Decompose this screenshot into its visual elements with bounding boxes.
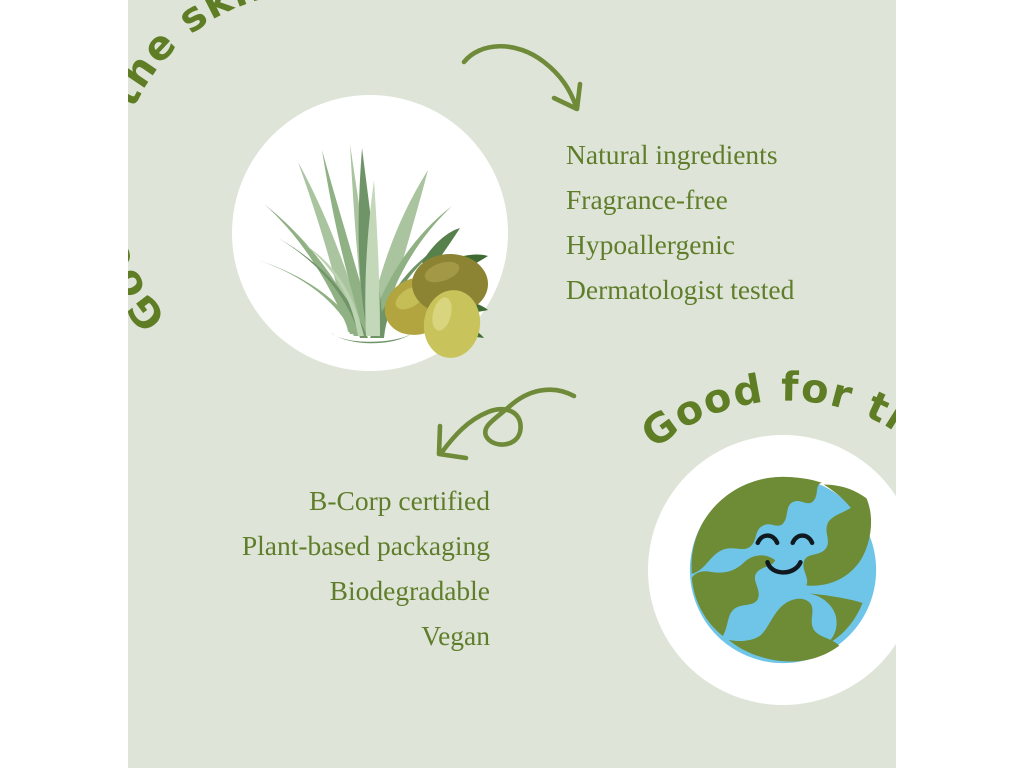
list-item: Plant-based packaging [170,523,490,568]
list-item: Natural ingredients [566,132,794,177]
list-item: Biodegradable [170,568,490,613]
infographic-canvas: Good for the skin Natural ingredients Fr… [128,0,896,768]
planet-badge: Good for the planet [456,252,896,722]
planet-heading-arc: Good for the planet [606,372,896,768]
skin-heading-text: Good for the skin [128,0,282,339]
curved-arrow-right-down-icon [458,34,598,124]
infographic-screenshot: Good for the skin Natural ingredients Fr… [0,0,1024,768]
list-item: Vegan [170,613,490,658]
list-item: Fragrance-free [566,177,794,222]
planet-heading-text: Good for the planet [633,364,896,611]
planet-feature-list: B-Corp certified Plant-based packaging B… [170,478,490,658]
list-item: B-Corp certified [170,478,490,523]
